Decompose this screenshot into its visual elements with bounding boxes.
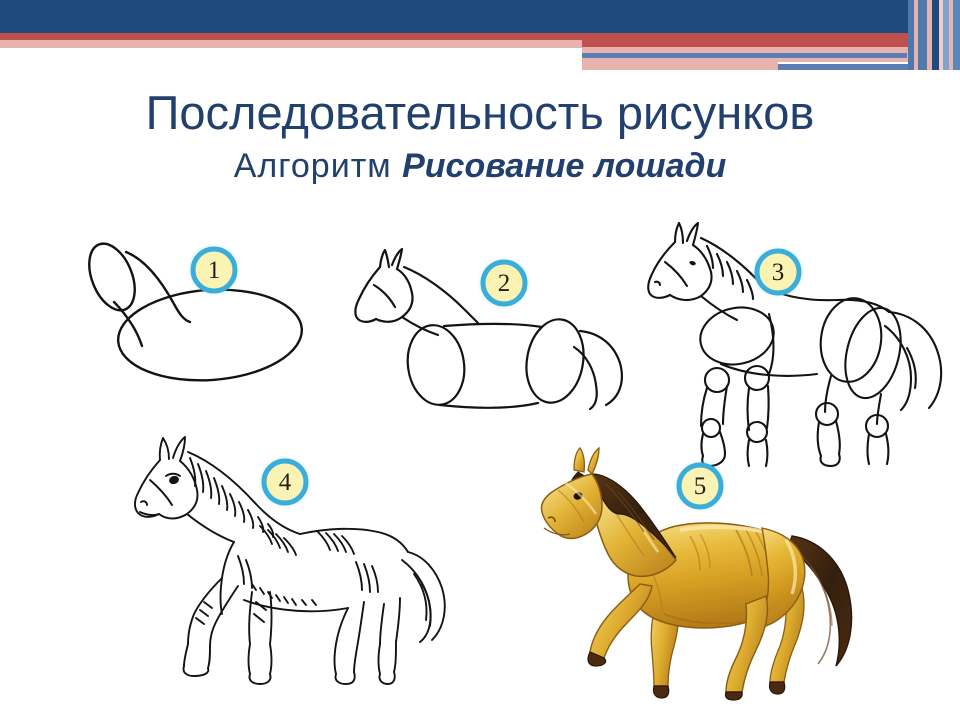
page-title: Последовательность рисунков: [0, 86, 960, 140]
header-accent-stripe: [932, 0, 939, 70]
horse-hoof: [769, 682, 784, 694]
step-badge-1-number: 1: [208, 257, 221, 284]
page-subtitle: Алгоритм Рисование лошади: [0, 145, 960, 187]
step-badge-2: 2: [476, 255, 532, 311]
horse-ear: [574, 448, 584, 472]
header-navy-bar: [0, 0, 960, 33]
horse-hoof: [653, 686, 668, 698]
horse-front-leg-near: [590, 584, 652, 658]
header-decoration: [0, 0, 960, 80]
step-figure-2: 2: [352, 243, 637, 403]
subtitle-emphasis: Рисование лошади: [402, 147, 726, 185]
subtitle-prefix: Алгоритм: [234, 147, 402, 185]
header-pink-bar-left: [0, 40, 582, 48]
step-figure-1: 1: [70, 230, 340, 395]
step-badge-2-number: 2: [498, 270, 511, 297]
step-figure-4: 4: [132, 432, 462, 682]
step-badge-3-number: 3: [772, 259, 785, 286]
header-pink-rule: [582, 62, 778, 70]
header-blue-rule-upper: [582, 53, 907, 58]
horse-ear: [588, 448, 599, 474]
step-badge-1: 1: [186, 242, 242, 298]
horse-hoof: [725, 692, 742, 700]
step-badge-5-number: 5: [694, 473, 707, 500]
step-badge-3: 3: [750, 244, 806, 300]
step-badge-5: 5: [672, 458, 728, 514]
step-figure-3: 3: [645, 218, 960, 463]
step-badge-4: 4: [257, 454, 313, 510]
header-accent-stripe: [918, 0, 927, 70]
step-badge-4-number: 4: [279, 469, 292, 496]
header-accent-stripe: [953, 0, 960, 70]
step-figure-5: 5: [540, 444, 870, 700]
horse-head: [541, 474, 602, 539]
